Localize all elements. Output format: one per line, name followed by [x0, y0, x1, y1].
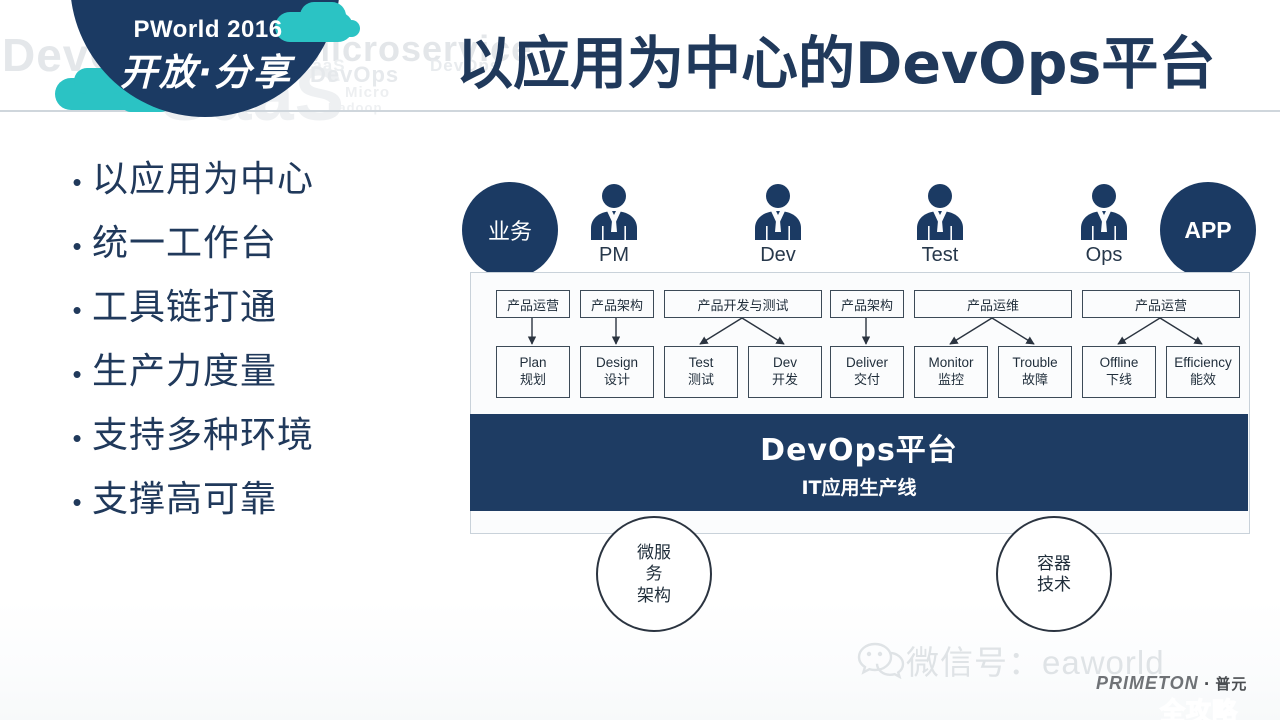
activity-box-monitor: Monitor 监控: [914, 346, 988, 398]
bullet-label: 生产力度量: [92, 342, 277, 394]
person-icon: [892, 182, 988, 240]
stage-box-product-operation-2: 产品运营: [1082, 290, 1240, 318]
role-dev: Dev: [730, 182, 826, 267]
activity-box-cn: 开发: [772, 372, 798, 388]
activity-box-trouble: Trouble 故障: [998, 346, 1072, 398]
person-icon: [730, 182, 826, 240]
list-item: • 生产力度量: [62, 342, 432, 394]
activity-box-en: Efficiency: [1174, 355, 1232, 372]
activity-box-cn: 交付: [854, 372, 880, 388]
app-circle-label: APP: [1184, 217, 1231, 244]
activity-box-en: Plan: [519, 355, 546, 372]
role-label: Ops: [1056, 244, 1152, 267]
role-test: Test: [892, 182, 988, 267]
devops-platform-bar: DevOps平台 IT应用生产线: [470, 414, 1248, 511]
activity-box-en: Deliver: [846, 355, 888, 372]
stage-box-product-maintenance: 产品运维: [914, 290, 1072, 318]
circle-line-2: 务: [637, 563, 671, 584]
activity-box-cn: 下线: [1106, 372, 1132, 388]
bullet-label: 工具链打通: [92, 278, 277, 330]
circle-line-2: 技术: [1037, 574, 1071, 595]
activity-box-en: Test: [689, 355, 714, 372]
stage-box-product-architecture-2: 产品架构: [830, 290, 904, 318]
bullet-dot-icon: •: [62, 233, 92, 259]
person-icon: [566, 182, 662, 240]
microservice-architecture-circle: 微服 务 架构: [596, 516, 712, 632]
bullet-list: • 以应用为中心 • 统一工作台 • 工具链打通 • 生产力度量 • 支持多种环…: [62, 150, 432, 534]
activity-box-cn: 监控: [938, 372, 964, 388]
business-circle: 业务: [462, 182, 558, 278]
activity-box-deliver: Deliver 交付: [830, 346, 904, 398]
platform-title: DevOps平台: [760, 425, 958, 469]
list-item: • 统一工作台: [62, 214, 432, 266]
primeton-logo: PRIMETON · 普元: [1096, 673, 1247, 694]
activity-box-efficiency: Efficiency 能效: [1166, 346, 1240, 398]
activity-box-cn: 测试: [688, 372, 714, 388]
devops-platform-diagram: 业务 APP PM: [448, 160, 1260, 640]
primeton-brand-en: PRIMETON: [1096, 673, 1199, 694]
bullet-dot-icon: •: [62, 297, 92, 323]
activity-box-design: Design 设计: [580, 346, 654, 398]
list-item: • 以应用为中心: [62, 150, 432, 202]
activity-box-cn: 设计: [604, 372, 630, 388]
activity-box-en: Dev: [773, 355, 797, 372]
wechat-icon: [856, 637, 906, 684]
watermark-micro: Micro: [345, 84, 390, 101]
bullet-dot-icon: •: [62, 425, 92, 451]
activity-box-cn: 能效: [1190, 372, 1216, 388]
activity-box-en: Design: [596, 355, 638, 372]
bullet-label: 支持多种环境: [92, 406, 314, 458]
bullet-label: 统一工作台: [92, 214, 277, 266]
stage-box-product-operation-1: 产品运营: [496, 290, 570, 318]
page-title: 以应用为中心的DevOps平台: [456, 18, 1215, 100]
activity-box-plan: Plan 规划: [496, 346, 570, 398]
activity-box-offline: Offline 下线: [1082, 346, 1156, 398]
pworld-logo-tagline: 开放·分享: [96, 42, 316, 96]
person-icon: [1056, 182, 1152, 240]
role-ops: Ops: [1056, 182, 1152, 267]
stage-box-product-dev-test: 产品开发与测试: [664, 290, 822, 318]
corner-tag: 全攻略: [1160, 692, 1238, 728]
app-circle: APP: [1160, 182, 1256, 278]
pworld-logo-brand: PWorld 2016: [128, 16, 288, 44]
bullet-dot-icon: •: [62, 489, 92, 515]
bullet-label: 支撑高可靠: [92, 470, 277, 522]
cloud-shape-right-small: [332, 20, 360, 37]
circle-line-3: 架构: [637, 585, 671, 606]
circle-line-1: 容器: [1037, 553, 1071, 574]
circle-line-1: 微服: [637, 542, 671, 563]
list-item: • 支撑高可靠: [62, 470, 432, 522]
bullet-label: 以应用为中心: [92, 150, 314, 202]
activity-box-dev: Dev 开发: [748, 346, 822, 398]
business-circle-label: 业务: [488, 214, 532, 246]
container-technology-circle: 容器 技术: [996, 516, 1112, 632]
list-item: • 支持多种环境: [62, 406, 432, 458]
bullet-dot-icon: •: [62, 169, 92, 195]
role-label: Dev: [730, 244, 826, 267]
primeton-separator: ·: [1204, 675, 1211, 693]
activity-box-cn: 故障: [1022, 372, 1048, 388]
activity-box-en: Monitor: [928, 355, 973, 372]
watermark-hadoop: Hadoop: [328, 100, 382, 115]
bullet-dot-icon: •: [62, 361, 92, 387]
activity-box-en: Offline: [1100, 355, 1139, 372]
role-label: Test: [892, 244, 988, 267]
activity-box-en: Trouble: [1012, 355, 1057, 372]
list-item: • 工具链打通: [62, 278, 432, 330]
role-pm: PM: [566, 182, 662, 267]
primeton-brand-cn: 普元: [1215, 673, 1247, 694]
activity-box-cn: 规划: [520, 372, 546, 388]
role-label: PM: [566, 244, 662, 267]
stage-box-product-architecture-1: 产品架构: [580, 290, 654, 318]
activity-box-test: Test 测试: [664, 346, 738, 398]
platform-subtitle: IT应用生产线: [801, 473, 916, 500]
